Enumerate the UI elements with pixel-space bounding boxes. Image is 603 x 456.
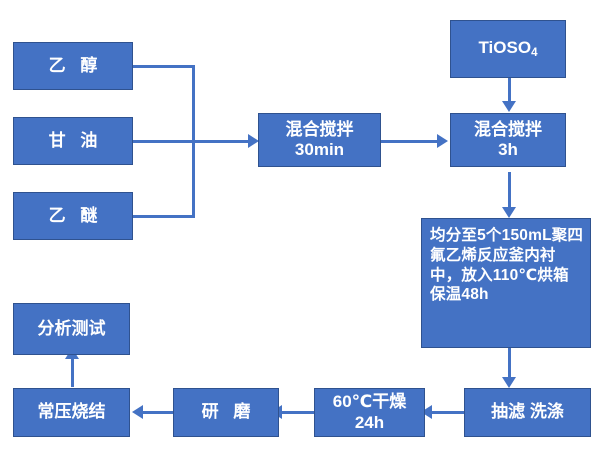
node-ethanol[interactable]: 乙 醇 (13, 42, 133, 90)
node-mix-stir-3h[interactable]: 混合搅拌 3h (450, 113, 566, 167)
arrowhead-tioso4-to-mix3h (502, 101, 516, 112)
connector-glycerol-to-mix30 (133, 140, 251, 143)
connector-sinter-to-analysis (71, 355, 74, 387)
arrowhead-to-hydrothermal (502, 207, 516, 218)
connector-grind-to-sinter (143, 411, 173, 414)
node-dry-60c-24h[interactable]: 60℃干燥 24h (314, 388, 425, 437)
connector-mix3h-to-hydrothermal (508, 172, 511, 210)
node-glycerol[interactable]: 甘 油 (13, 117, 133, 165)
tioso4-formula: TiOSO4 (478, 38, 537, 61)
node-mix-stir-30min[interactable]: 混合搅拌 30min (258, 113, 381, 167)
flowchart-canvas: 乙 醇 甘 油 乙 醚 混合搅拌 30min TiOSO4 混合搅拌 3h 均分… (0, 0, 603, 456)
connector-ethanol-to-bus (133, 65, 195, 68)
node-hydrothermal-treatment[interactable]: 均分至5个150mL聚四氟乙烯反应釜内衬中，放入110℃烘箱保温48h (421, 218, 591, 348)
node-tioso4[interactable]: TiOSO4 (450, 20, 566, 78)
node-filter-wash[interactable]: 抽滤 洗涤 (464, 388, 591, 437)
connector-mix30-to-mix3h (380, 140, 441, 143)
node-grind[interactable]: 研 磨 (173, 388, 279, 437)
arrowhead-to-sinter (132, 405, 143, 419)
node-analysis-test[interactable]: 分析测试 (13, 303, 130, 355)
arrowhead-to-filter (502, 377, 516, 388)
node-sinter[interactable]: 常压烧结 (13, 388, 130, 437)
connector-hydrothermal-to-filter (508, 348, 511, 380)
node-ether[interactable]: 乙 醚 (13, 192, 133, 240)
connector-dry-to-grind (282, 411, 314, 414)
connector-ether-to-bus (133, 215, 195, 218)
arrowhead-to-mix3h (437, 134, 448, 148)
connector-filter-to-dry (432, 411, 464, 414)
